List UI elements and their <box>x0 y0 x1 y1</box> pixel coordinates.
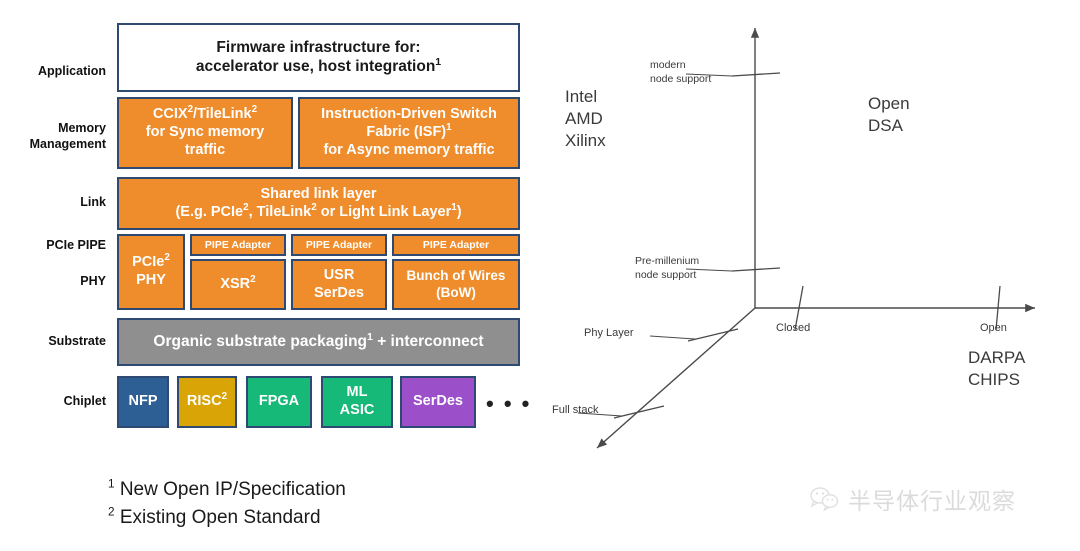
ccix-label: CCIX <box>153 106 188 122</box>
row-label-chiplet: Chiplet <box>0 394 106 410</box>
pipe-adapter-usr[interactable]: PIPE Adapter <box>291 234 387 256</box>
isf-line-3: for Async memory traffic <box>323 142 494 158</box>
link-box[interactable]: Shared link layer (E.g. PCIe2, TileLink2… <box>117 177 520 230</box>
bow-line-1: Bunch of Wires <box>407 268 506 283</box>
watermark-text: 半导体行业观察 <box>848 482 1016 516</box>
footnote-1-text: New Open IP/Specification <box>120 479 346 500</box>
chiplet-nfp-label: NFP <box>119 393 167 411</box>
row-label-memory-management: Memory Management <box>0 121 106 152</box>
footnote-2-marker: 2 <box>108 506 115 519</box>
xsr-box[interactable]: XSR2 <box>190 259 286 310</box>
sync-memory-line: for Sync memory <box>146 124 264 140</box>
tick-pre-millenium-node-support <box>732 268 780 271</box>
xsr-label: XSR <box>220 276 250 292</box>
chiplet-risc-label: RISC <box>187 393 222 409</box>
pcie-phy-sup: 2 <box>164 252 169 263</box>
annotation-open-dsa: Open DSA <box>868 93 910 137</box>
application-footnote-marker: 1 <box>435 55 441 67</box>
label-closed: Closed <box>776 322 810 334</box>
label-phy-layer: Phy Layer <box>584 327 634 339</box>
isf-sup: 1 <box>446 122 451 133</box>
chiplet-serdes[interactable]: SerDes <box>400 376 476 428</box>
pcie-phy-box[interactable]: PCIe2 PHY <box>117 234 185 310</box>
usr-line-2: SerDes <box>314 285 364 301</box>
chiplet-nfp[interactable]: NFP <box>117 376 169 428</box>
tilelink-sup: 2 <box>252 105 257 116</box>
row-label-pcie-pipe: PCIe PIPE <box>0 238 106 254</box>
footnote-2: 2 Existing Open Standard <box>108 507 321 529</box>
isf-line-2: Fabric (ISF) <box>366 124 446 140</box>
pipe-adapter-bow-label: PIPE Adapter <box>394 239 518 252</box>
annotation-incumbents: Intel AMD Xilinx <box>565 86 606 152</box>
row-label-phy: PHY <box>0 274 106 290</box>
label-open: Open <box>980 322 1007 334</box>
link-tilelink-label: , TileLink <box>249 204 312 220</box>
application-line-1: Firmware infrastructure for: <box>216 39 420 56</box>
wechat-icon <box>810 486 840 512</box>
chiplet-more-ellipsis: • • • <box>486 391 531 417</box>
memory-management-async-box[interactable]: Instruction-Driven Switch Fabric (ISF)1 … <box>298 97 520 169</box>
axes-svg <box>540 0 1080 546</box>
bow-line-2: (BoW) <box>436 285 476 300</box>
chiplet-risc[interactable]: RISC2 <box>177 376 237 428</box>
isf-line-1: Instruction-Driven Switch <box>321 106 497 122</box>
row-label-application: Application <box>0 64 106 80</box>
tick-modern-node-support <box>732 73 780 76</box>
link-line-1: Shared link layer <box>260 186 376 202</box>
row-label-substrate: Substrate <box>0 334 106 350</box>
footnote-1: 1 New Open IP/Specification <box>108 479 346 501</box>
pipe-adapter-bow[interactable]: PIPE Adapter <box>392 234 520 256</box>
memory-management-sync-box[interactable]: CCIX2/TileLink2 for Sync memory traffic <box>117 97 293 169</box>
usr-serdes-box[interactable]: USR SerDes <box>291 259 387 310</box>
pipe-adapter-xsr[interactable]: PIPE Adapter <box>190 234 286 256</box>
sync-traffic-line: traffic <box>185 142 225 158</box>
tilelink-label: /TileLink <box>193 106 252 122</box>
substrate-label: Organic substrate packaging <box>153 333 367 350</box>
chiplet-ml-asic-label: ML ASIC <box>323 384 391 419</box>
pipe-adapter-usr-label: PIPE Adapter <box>293 239 385 252</box>
pcie-phy-line-2: PHY <box>136 272 166 288</box>
chiplet-risc-sup: 2 <box>222 391 227 402</box>
chiplet-ml-asic[interactable]: ML ASIC <box>321 376 393 428</box>
footnote-2-text: Existing Open Standard <box>120 507 321 528</box>
link-paren-close: ) <box>457 204 462 220</box>
chiplet-serdes-label: SerDes <box>402 393 474 411</box>
label-pre-millenium-node-support: Pre-millenium node support <box>635 254 730 282</box>
label-modern-node-support: modern node support <box>650 58 730 86</box>
watermark: 半导体行业观察 <box>810 482 1016 516</box>
three-axis-diagram: modern node support Pre-millenium node s… <box>540 0 1080 546</box>
annotation-darpa-chips: DARPA CHIPS <box>968 347 1025 391</box>
link-pcie-label: (E.g. PCIe <box>175 204 243 220</box>
pcie-phy-line-1: PCIe <box>132 254 164 270</box>
chiplet-fpga-label: FPGA <box>248 393 310 411</box>
link-lightlink-label: or Light Link Layer <box>317 204 452 220</box>
application-box[interactable]: Firmware infrastructure for: accelerator… <box>117 23 520 92</box>
row-label-link: Link <box>0 195 106 211</box>
application-line-2: accelerator use, host integration <box>196 58 435 75</box>
substrate-box[interactable]: Organic substrate packaging1 + interconn… <box>117 318 520 366</box>
chiplet-fpga[interactable]: FPGA <box>246 376 312 428</box>
footnote-1-marker: 1 <box>108 478 115 491</box>
substrate-suffix: + interconnect <box>373 333 484 350</box>
bow-box[interactable]: Bunch of Wires (BoW) <box>392 259 520 310</box>
pipe-adapter-xsr-label: PIPE Adapter <box>192 239 284 252</box>
label-full-stack: Full stack <box>552 404 598 416</box>
leader-phy-layer <box>650 336 695 339</box>
xsr-sup: 2 <box>250 274 255 285</box>
tick-phy-layer <box>688 329 738 341</box>
usr-line-1: USR <box>324 267 355 283</box>
